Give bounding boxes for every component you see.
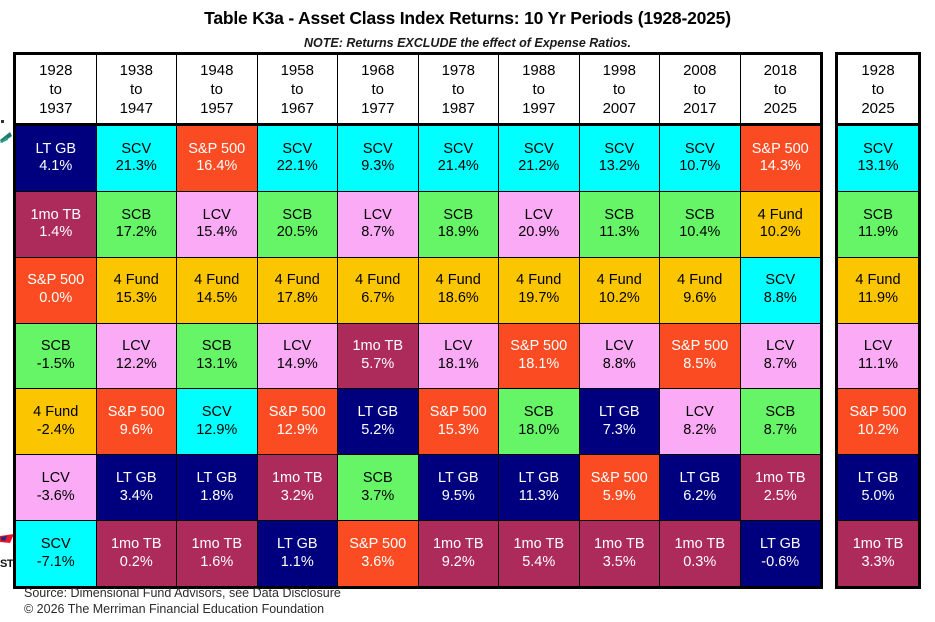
asset-class-label: SCB — [524, 404, 554, 422]
return-value: -3.6% — [37, 488, 75, 506]
table-row: SCV13.1% — [838, 126, 918, 192]
full-period-column-block: 1928to2025 SCV13.1%SCB11.9%4 Fund11.9%LC… — [835, 52, 921, 589]
table-row: 4 Fund-2.4%S&P 5009.6%SCV12.9%S&P 50012.… — [16, 389, 820, 455]
return-cell: 4 Fund17.8% — [258, 258, 339, 323]
return-value: 22.1% — [277, 158, 318, 176]
asset-class-label: LCV — [864, 338, 892, 356]
header-line-mid: to — [210, 80, 223, 99]
return-value: 12.9% — [196, 422, 237, 440]
asset-class-label: S&P 500 — [349, 536, 406, 554]
asset-class-label: LT GB — [599, 404, 640, 422]
summary-header-row: 1928to2025 — [838, 55, 918, 126]
return-value: 1.6% — [200, 554, 233, 572]
table-row: SCB11.9% — [838, 192, 918, 258]
return-value: 8.8% — [764, 290, 797, 308]
return-cell: LCV8.8% — [580, 324, 661, 389]
header-line-mid: to — [130, 80, 143, 99]
return-value: 20.5% — [277, 224, 318, 242]
asset-class-label: S&P 500 — [752, 141, 809, 159]
decade-header-9: 2018to2025 — [741, 55, 821, 123]
asset-class-label: SCV — [524, 141, 554, 159]
return-cell: 4 Fund18.6% — [419, 258, 500, 323]
return-value: 3.5% — [603, 554, 636, 572]
return-value: 8.8% — [603, 356, 636, 374]
header-line-start: 1998 — [603, 61, 636, 80]
asset-class-label: SCV — [363, 141, 393, 159]
header-line-end: 1967 — [281, 99, 314, 118]
return-value: 12.2% — [116, 356, 157, 374]
return-cell: 4 Fund11.9% — [838, 258, 918, 323]
asset-class-label: S&P 500 — [510, 338, 567, 356]
return-cell: LT GB-0.6% — [741, 521, 821, 586]
asset-class-label: S&P 500 — [27, 272, 84, 290]
header-line-start: 1928 — [861, 61, 894, 80]
return-cell: SCV22.1% — [258, 126, 339, 191]
return-value: 10.4% — [679, 224, 720, 242]
asset-class-label: 1mo TB — [191, 536, 242, 554]
asset-class-label: 1mo TB — [674, 536, 725, 554]
decade-header-8: 2008to2017 — [660, 55, 741, 123]
return-cell: 4 Fund10.2% — [580, 258, 661, 323]
return-value: 15.4% — [196, 224, 237, 242]
return-cell: SCB-1.5% — [16, 324, 97, 389]
return-value: 1.8% — [200, 488, 233, 506]
return-value: 3.4% — [120, 488, 153, 506]
return-value: 13.1% — [857, 158, 898, 176]
source-note: Source: Dimensional Fund Advisors, see D… — [24, 586, 341, 600]
return-cell: 4 Fund9.6% — [660, 258, 741, 323]
return-value: 17.8% — [277, 290, 318, 308]
return-cell: 4 Fund14.5% — [177, 258, 258, 323]
return-cell: 1mo TB1.4% — [16, 192, 97, 257]
return-value: 14.9% — [277, 356, 318, 374]
return-cell: 1mo TB3.2% — [258, 455, 339, 520]
return-value: 9.3% — [361, 158, 394, 176]
asset-class-label: LT GB — [35, 141, 76, 159]
decade-header-4: 1968to1977 — [338, 55, 419, 123]
asset-class-label: 4 Fund — [758, 207, 803, 225]
asset-class-label: LT GB — [116, 470, 157, 488]
return-value: 1.1% — [281, 554, 314, 572]
return-value: 9.5% — [442, 488, 475, 506]
return-value: 18.6% — [438, 290, 479, 308]
asset-class-label: LT GB — [196, 470, 237, 488]
asset-class-label: LCV — [525, 207, 553, 225]
asset-class-label: 4 Fund — [855, 272, 900, 290]
asset-class-label: S&P 500 — [269, 404, 326, 422]
return-cell: LT GB7.3% — [580, 389, 661, 454]
table-row: 1mo TB1.4%SCB17.2%LCV15.4%SCB20.5%LCV8.7… — [16, 192, 820, 258]
return-cell: LCV12.2% — [97, 324, 178, 389]
return-value: -2.4% — [37, 422, 75, 440]
return-cell: LT GB5.2% — [338, 389, 419, 454]
return-cell: SCB11.3% — [580, 192, 661, 257]
table-page: Table K3a - Asset Class Index Returns: 1… — [0, 0, 935, 622]
table-row: 1mo TB3.3% — [838, 521, 918, 586]
return-cell: S&P 50010.2% — [838, 389, 918, 454]
returns-table: 1928to19371938to19471948to19571958to1967… — [13, 52, 921, 589]
table-row: LT GB4.1%SCV21.3%S&P 50016.4%SCV22.1%SCV… — [16, 126, 820, 192]
return-cell: SCB17.2% — [97, 192, 178, 257]
logo-artifact-top — [0, 118, 14, 144]
table-row: SCV-7.1%1mo TB0.2%1mo TB1.6%LT GB1.1%S&P… — [16, 521, 820, 586]
header-line-mid: to — [774, 80, 787, 99]
asset-class-label: 4 Fund — [677, 272, 722, 290]
return-value: 3.7% — [361, 488, 394, 506]
return-value: 8.7% — [764, 356, 797, 374]
return-value: 21.2% — [518, 158, 559, 176]
return-cell: LCV8.7% — [741, 324, 821, 389]
decade-header-6: 1988to1997 — [499, 55, 580, 123]
return-value: 12.9% — [277, 422, 318, 440]
return-value: 5.4% — [522, 554, 555, 572]
asset-class-label: 4 Fund — [33, 404, 78, 422]
asset-class-label: LT GB — [357, 404, 398, 422]
asset-class-label: S&P 500 — [591, 470, 648, 488]
return-cell: LT GB5.0% — [838, 455, 918, 520]
return-value: 13.1% — [196, 356, 237, 374]
return-value: -1.5% — [37, 356, 75, 374]
asset-class-label: LT GB — [760, 536, 801, 554]
asset-class-label: SCV — [202, 404, 232, 422]
asset-class-label: 4 Fund — [114, 272, 159, 290]
return-value: 14.5% — [196, 290, 237, 308]
asset-class-label: S&P 500 — [850, 404, 907, 422]
asset-class-label: 4 Fund — [516, 272, 561, 290]
header-line-mid: to — [532, 80, 545, 99]
return-cell: LCV15.4% — [177, 192, 258, 257]
asset-class-label: SCV — [121, 141, 151, 159]
header-line-start: 2018 — [764, 61, 797, 80]
asset-class-label: LCV — [766, 338, 794, 356]
return-value: 3.3% — [861, 554, 894, 572]
return-value: 1.4% — [39, 224, 72, 242]
asset-class-label: LCV — [42, 470, 70, 488]
return-cell: S&P 50018.1% — [499, 324, 580, 389]
asset-class-label: LCV — [203, 207, 231, 225]
return-value: 6.2% — [683, 488, 716, 506]
return-value: 2.5% — [764, 488, 797, 506]
return-cell: S&P 5000.0% — [16, 258, 97, 323]
return-cell: 4 Fund15.3% — [97, 258, 178, 323]
asset-class-label: SCV — [863, 141, 893, 159]
table-row: S&P 5000.0%4 Fund15.3%4 Fund14.5%4 Fund1… — [16, 258, 820, 324]
table-row: 4 Fund11.9% — [838, 258, 918, 324]
asset-class-label: 4 Fund — [275, 272, 320, 290]
asset-class-label: S&P 500 — [188, 141, 245, 159]
return-cell: SCB18.0% — [499, 389, 580, 454]
page-title: Table K3a - Asset Class Index Returns: 1… — [0, 8, 935, 29]
return-cell: LT GB4.1% — [16, 126, 97, 191]
return-value: 5.0% — [861, 488, 894, 506]
asset-class-label: 1mo TB — [513, 536, 564, 554]
asset-class-label: S&P 500 — [430, 404, 487, 422]
header-line-mid: to — [291, 80, 304, 99]
asset-class-label: 1mo TB — [272, 470, 323, 488]
return-value: 8.7% — [361, 224, 394, 242]
decade-header-5: 1978to1987 — [419, 55, 500, 123]
return-value: 6.7% — [361, 290, 394, 308]
return-cell: SCV13.1% — [838, 126, 918, 191]
header-line-end: 1997 — [522, 99, 555, 118]
return-cell: LCV18.1% — [419, 324, 500, 389]
return-cell: SCV9.3% — [338, 126, 419, 191]
return-value: 18.9% — [438, 224, 479, 242]
return-cell: LT GB9.5% — [419, 455, 500, 520]
return-cell: SCV12.9% — [177, 389, 258, 454]
asset-class-label: 1mo TB — [30, 207, 81, 225]
return-cell: SCV8.8% — [741, 258, 821, 323]
return-value: 0.3% — [683, 554, 716, 572]
return-cell: 4 Fund6.7% — [338, 258, 419, 323]
return-value: 5.7% — [361, 356, 394, 374]
return-cell: 1mo TB2.5% — [741, 455, 821, 520]
header-line-end: 2025 — [861, 99, 894, 118]
return-value: 0.2% — [120, 554, 153, 572]
return-value: 13.2% — [599, 158, 640, 176]
header-line-end: 1947 — [120, 99, 153, 118]
return-value: 18.1% — [438, 356, 479, 374]
return-cell: SCV21.4% — [419, 126, 500, 191]
return-cell: S&P 5005.9% — [580, 455, 661, 520]
return-cell: LCV8.2% — [660, 389, 741, 454]
header-line-start: 2008 — [683, 61, 716, 80]
table-row: LT GB5.0% — [838, 455, 918, 521]
decade-header-3: 1958to1967 — [258, 55, 339, 123]
copyright-note: © 2026 The Merriman Financial Education … — [24, 602, 324, 616]
page-subtitle: NOTE: Returns EXCLUDE the effect of Expe… — [0, 36, 935, 50]
return-cell: SCV-7.1% — [16, 521, 97, 586]
header-line-end: 1987 — [442, 99, 475, 118]
return-value: 11.3% — [599, 224, 639, 242]
return-cell: 1mo TB1.6% — [177, 521, 258, 586]
return-value: 10.2% — [599, 290, 640, 308]
header-line-start: 1948 — [200, 61, 233, 80]
header-line-end: 1957 — [200, 99, 233, 118]
header-line-mid: to — [452, 80, 465, 99]
return-value: 18.1% — [518, 356, 559, 374]
asset-class-label: 1mo TB — [352, 338, 403, 356]
return-cell: LT GB3.4% — [97, 455, 178, 520]
header-line-mid: to — [693, 80, 706, 99]
return-cell: 4 Fund10.2% — [741, 192, 821, 257]
decade-header-0: 1928to1937 — [16, 55, 97, 123]
table-row: LCV-3.6%LT GB3.4%LT GB1.8%1mo TB3.2%SCB3… — [16, 455, 820, 521]
asset-class-label: LT GB — [518, 470, 559, 488]
header-line-start: 1958 — [281, 61, 314, 80]
header-line-start: 1988 — [522, 61, 555, 80]
return-value: 8.2% — [683, 422, 716, 440]
return-cell: SCV21.2% — [499, 126, 580, 191]
asset-class-label: LT GB — [277, 536, 318, 554]
asset-class-label: SCB — [282, 207, 312, 225]
return-cell: LT GB11.3% — [499, 455, 580, 520]
return-cell: SCV21.3% — [97, 126, 178, 191]
return-value: 15.3% — [438, 422, 479, 440]
return-value: 7.3% — [603, 422, 636, 440]
asset-class-label: 1mo TB — [755, 470, 806, 488]
return-cell: 1mo TB0.2% — [97, 521, 178, 586]
asset-class-label: 4 Fund — [355, 272, 400, 290]
asset-class-label: LCV — [364, 207, 392, 225]
decade-body: LT GB4.1%SCV21.3%S&P 50016.4%SCV22.1%SCV… — [16, 126, 820, 586]
return-cell: LCV8.7% — [338, 192, 419, 257]
decade-header-row: 1928to19371938to19471948to19571958to1967… — [16, 55, 820, 126]
header-line-end: 1937 — [39, 99, 72, 118]
decade-columns-block: 1928to19371938to19471948to19571958to1967… — [13, 52, 823, 589]
return-cell: SCV13.2% — [580, 126, 661, 191]
asset-class-label: S&P 500 — [671, 338, 728, 356]
asset-class-label: SCB — [863, 207, 893, 225]
return-cell: 1mo TB9.2% — [419, 521, 500, 586]
return-value: 10.2% — [760, 224, 801, 242]
return-value: 3.6% — [361, 554, 394, 572]
return-cell: S&P 50016.4% — [177, 126, 258, 191]
return-value: 14.3% — [760, 158, 801, 176]
return-cell: 4 Fund-2.4% — [16, 389, 97, 454]
table-row: S&P 50010.2% — [838, 389, 918, 455]
header-line-end: 2007 — [603, 99, 636, 118]
header-line-mid: to — [49, 80, 62, 99]
return-cell: 1mo TB3.3% — [838, 521, 918, 586]
asset-class-label: 1mo TB — [433, 536, 484, 554]
asset-class-label: SCB — [202, 338, 232, 356]
header-line-mid: to — [872, 80, 885, 99]
asset-class-label: 4 Fund — [436, 272, 481, 290]
header-line-start: 1978 — [442, 61, 475, 80]
return-value: 8.5% — [683, 356, 716, 374]
return-value: 21.4% — [438, 158, 479, 176]
header-line-start: 1928 — [39, 61, 72, 80]
return-cell: 4 Fund19.7% — [499, 258, 580, 323]
asset-class-label: 1mo TB — [594, 536, 645, 554]
return-cell: LT GB1.1% — [258, 521, 339, 586]
header-line-start: 1968 — [361, 61, 394, 80]
asset-class-label: SCV — [765, 272, 795, 290]
return-cell: SCV10.7% — [660, 126, 741, 191]
asset-class-label: SCB — [685, 207, 715, 225]
logo-text-fragment: ST — [0, 558, 13, 570]
return-value: 11.3% — [519, 488, 559, 506]
asset-class-label: SCB — [121, 207, 151, 225]
return-value: 11.9% — [858, 290, 898, 308]
return-cell: SCB20.5% — [258, 192, 339, 257]
asset-class-label: SCB — [41, 338, 71, 356]
return-value: 9.6% — [120, 422, 153, 440]
table-row: LCV11.1% — [838, 324, 918, 390]
summary-body: SCV13.1%SCB11.9%4 Fund11.9%LCV11.1%S&P 5… — [838, 126, 918, 586]
return-cell: LCV11.1% — [838, 324, 918, 389]
return-value: 19.7% — [518, 290, 559, 308]
return-value: 17.2% — [116, 224, 157, 242]
header-line-start: 1938 — [120, 61, 153, 80]
return-cell: SCB10.4% — [660, 192, 741, 257]
asset-class-label: LT GB — [438, 470, 479, 488]
return-value: 0.0% — [39, 290, 72, 308]
header-line-end: 2025 — [764, 99, 797, 118]
asset-class-label: 1mo TB — [853, 536, 904, 554]
return-value: 11.9% — [858, 224, 898, 242]
return-cell: 1mo TB5.7% — [338, 324, 419, 389]
column-gap — [823, 52, 835, 589]
return-cell: 1mo TB5.4% — [499, 521, 580, 586]
return-cell: LT GB1.8% — [177, 455, 258, 520]
return-cell: S&P 5003.6% — [338, 521, 419, 586]
asset-class-label: SCB — [443, 207, 473, 225]
return-cell: SCB3.7% — [338, 455, 419, 520]
asset-class-label: SCV — [41, 536, 71, 554]
return-value: 9.2% — [442, 554, 475, 572]
asset-class-label: LCV — [444, 338, 472, 356]
asset-class-label: LCV — [605, 338, 633, 356]
header-line-mid: to — [613, 80, 626, 99]
return-cell: LT GB6.2% — [660, 455, 741, 520]
asset-class-label: SCV — [282, 141, 312, 159]
table-row: SCB-1.5%LCV12.2%SCB13.1%LCV14.9%1mo TB5.… — [16, 324, 820, 390]
return-cell: SCB8.7% — [741, 389, 821, 454]
asset-class-label: LCV — [686, 404, 714, 422]
return-cell: S&P 50014.3% — [741, 126, 821, 191]
return-value: 5.9% — [603, 488, 636, 506]
asset-class-label: S&P 500 — [108, 404, 165, 422]
return-cell: S&P 5008.5% — [660, 324, 741, 389]
return-value: 15.3% — [116, 290, 157, 308]
return-cell: SCB18.9% — [419, 192, 500, 257]
asset-class-label: 1mo TB — [111, 536, 162, 554]
asset-class-label: SCV — [685, 141, 715, 159]
return-value: 16.4% — [196, 158, 237, 176]
return-value: -0.6% — [761, 554, 799, 572]
return-value: 8.7% — [764, 422, 797, 440]
return-value: 18.0% — [518, 422, 559, 440]
return-value: 10.7% — [679, 158, 720, 176]
return-value: 11.1% — [858, 356, 898, 374]
return-cell: LCV14.9% — [258, 324, 339, 389]
asset-class-label: LCV — [283, 338, 311, 356]
asset-class-label: SCB — [765, 404, 795, 422]
full-period-header: 1928to2025 — [838, 55, 918, 123]
return-cell: 1mo TB0.3% — [660, 521, 741, 586]
return-value: 5.2% — [361, 422, 394, 440]
return-cell: LCV-3.6% — [16, 455, 97, 520]
asset-class-label: 4 Fund — [597, 272, 642, 290]
asset-class-label: SCB — [363, 470, 393, 488]
return-cell: SCB11.9% — [838, 192, 918, 257]
header-line-mid: to — [371, 80, 384, 99]
return-value: 21.3% — [116, 158, 157, 176]
return-value: 9.6% — [683, 290, 716, 308]
asset-class-label: 4 Fund — [194, 272, 239, 290]
return-cell: S&P 5009.6% — [97, 389, 178, 454]
decade-header-1: 1938to1947 — [97, 55, 178, 123]
return-cell: S&P 50012.9% — [258, 389, 339, 454]
return-value: -7.1% — [37, 554, 75, 572]
return-value: 20.9% — [518, 224, 559, 242]
return-cell: SCB13.1% — [177, 324, 258, 389]
asset-class-label: SCV — [604, 141, 634, 159]
return-value: 4.1% — [39, 158, 72, 176]
return-cell: S&P 50015.3% — [419, 389, 500, 454]
return-cell: LCV20.9% — [499, 192, 580, 257]
asset-class-label: LT GB — [858, 470, 899, 488]
asset-class-label: SCB — [604, 207, 634, 225]
return-value: 3.2% — [281, 488, 314, 506]
return-cell: 1mo TB3.5% — [580, 521, 661, 586]
asset-class-label: LT GB — [679, 470, 720, 488]
header-line-end: 1977 — [361, 99, 394, 118]
decade-header-7: 1998to2007 — [580, 55, 661, 123]
asset-class-label: SCV — [443, 141, 473, 159]
